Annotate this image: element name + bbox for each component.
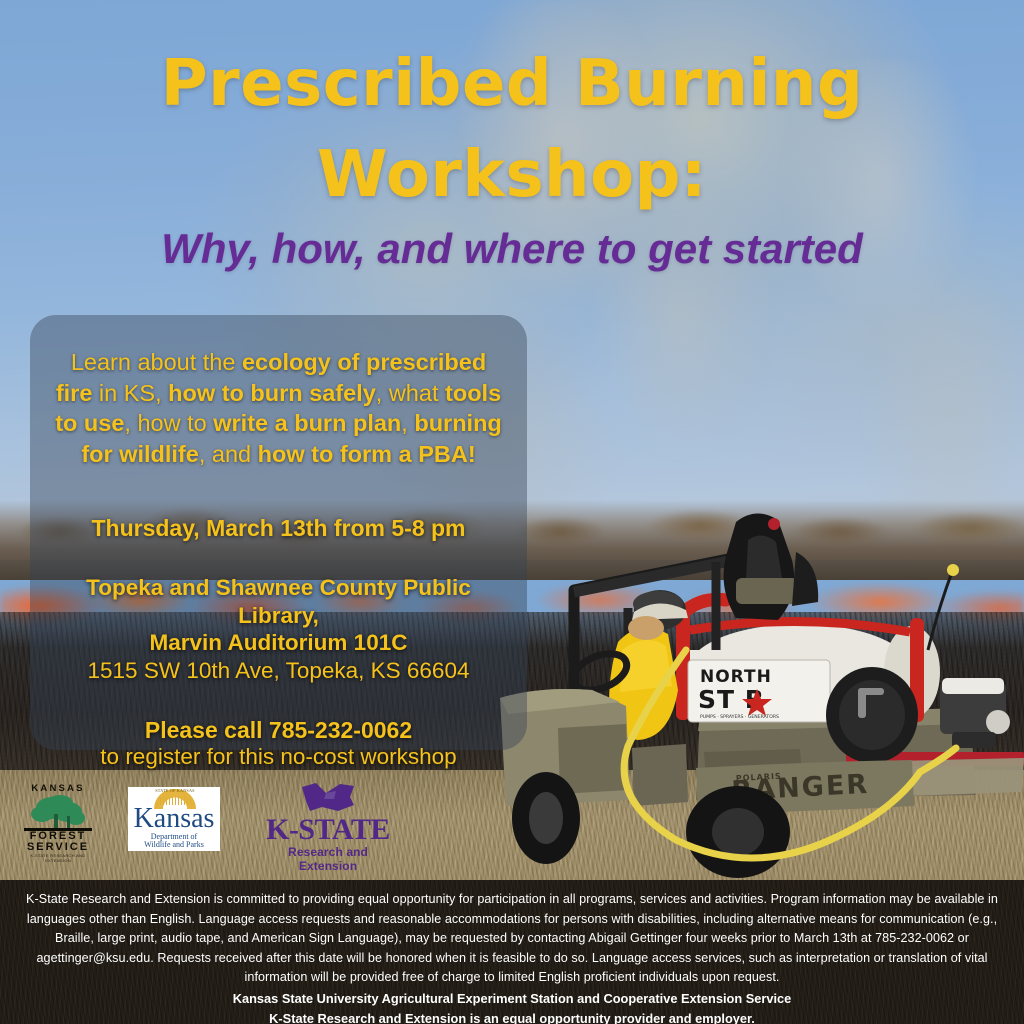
kfs-bottom-text-3: K-STATE RESEARCH AND EXTENSION: [20, 853, 96, 863]
blurb-p1: Learn about the: [71, 349, 242, 375]
kfs-top-text: KANSAS: [16, 783, 100, 794]
blurb-b6: how to form a PBA!: [258, 441, 476, 467]
powercat-icon: [300, 781, 358, 813]
blurb-b4: write a burn plan: [213, 410, 401, 436]
logo-kstate-research-extension: K-STATE Research and Extension: [258, 779, 398, 861]
blurb-p6: , and: [199, 441, 258, 467]
kdwp-arc-text: STATE OF KANSAS: [154, 788, 196, 793]
sponsor-logos: KANSAS FOREST SERVICE K-STATE RESEARCH A…: [0, 775, 420, 865]
blurb-p5: ,: [401, 410, 414, 436]
kfs-bottom-text-2: SERVICE: [20, 842, 96, 854]
disclaimer-paragraph: K-State Research and Extension is commit…: [14, 890, 1010, 988]
event-address: 1515 SW 10th Ave, Topeka, KS 66604: [54, 657, 503, 685]
poster-flyer: NORTH ST R PUMPS · SPRAYERS · GENERATORS: [0, 0, 1024, 1024]
registration-note: to register for this no-cost workshop: [54, 744, 503, 770]
utv-fire-rig: NORTH ST R PUMPS · SPRAYERS · GENERATORS: [500, 500, 1024, 880]
disclaimer-bold-line-1: Kansas State University Agricultural Exp…: [14, 989, 1010, 1008]
logo-kansas-wildlife-parks: STATE OF KANSAS Kansas Department of Wil…: [128, 787, 220, 851]
venue-line-2: Marvin Auditorium 101C: [54, 629, 503, 656]
title-line-1: Prescribed Burning: [0, 52, 1024, 116]
event-venue: Topeka and Shawnee County Public Library…: [54, 574, 503, 656]
kdwp-wordmark: Kansas: [128, 805, 220, 833]
utv-illustration: NORTH ST R PUMPS · SPRAYERS · GENERATORS: [500, 500, 1024, 880]
blurb-p4: , how to: [124, 410, 213, 436]
disclaimer-bold-line-2: K-State Research and Extension is an equ…: [14, 1009, 1010, 1024]
svg-text:PUMPS · SPRAYERS · GENERATORS: PUMPS · SPRAYERS · GENERATORS: [700, 714, 779, 720]
blurb-b2: how to burn safely: [168, 380, 376, 406]
svg-text:NORTH: NORTH: [700, 667, 772, 687]
kstate-wordmark: K-STATE: [258, 815, 398, 845]
blurb-p3: , what: [376, 380, 445, 406]
footer-disclaimer: K-State Research and Extension is commit…: [0, 880, 1024, 1024]
venue-line-1: Topeka and Shawnee County Public Library…: [54, 574, 503, 629]
info-panel: Learn about the ecology of prescribed fi…: [30, 315, 527, 750]
kstate-tagline: Research and Extension: [258, 845, 398, 873]
registration-phone: Please call 785-232-0062: [54, 717, 503, 744]
logo-kansas-forest-service: KANSAS FOREST SERVICE K-STATE RESEARCH A…: [16, 783, 100, 855]
blurb-p2: in KS,: [92, 380, 168, 406]
workshop-description: Learn about the ecology of prescribed fi…: [54, 347, 503, 469]
tree-icon: [30, 794, 86, 830]
kdwp-sub-line-2: Wildlife and Parks: [128, 840, 220, 849]
subtitle: Why, how, and where to get started: [0, 225, 1024, 273]
title-line-2: Workshop:: [0, 143, 1024, 207]
event-datetime: Thursday, March 13th from 5-8 pm: [54, 515, 503, 542]
